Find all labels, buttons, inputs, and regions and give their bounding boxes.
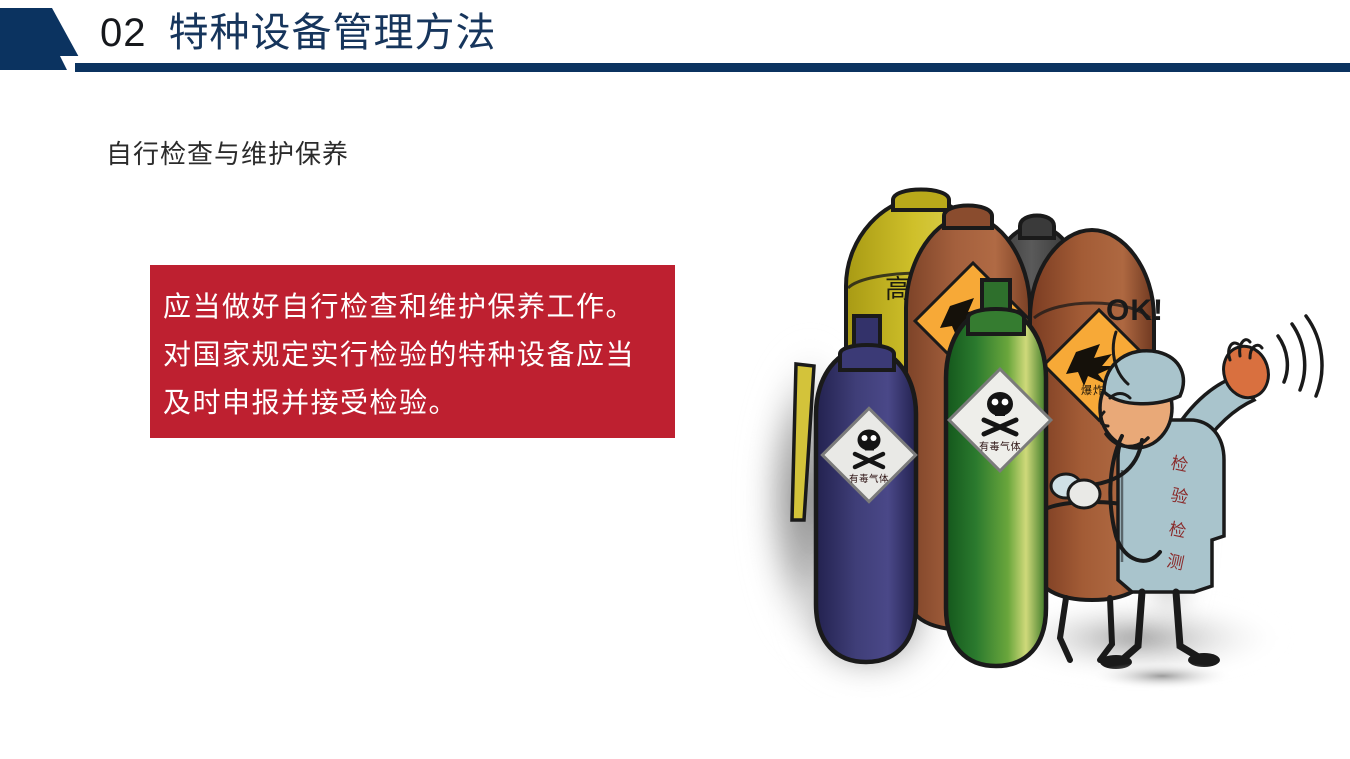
section-title: 特种设备管理方法 (169, 13, 497, 53)
skull-eye-r-green (1002, 399, 1009, 406)
inspector-waving-hand (1217, 316, 1322, 404)
cylinder-blue: 有毒气体 (816, 316, 916, 662)
callout-line-1: 应当做好自行检查和维护保养工作。 (163, 284, 675, 332)
section-number: 02 (100, 13, 147, 53)
illustration-gas-cylinders: 高压 爆炸品 (718, 168, 1350, 698)
green-cylinder-collar (968, 309, 1024, 334)
skull-jaw-green (995, 411, 1005, 416)
cylinder-green: 有毒气体 (946, 280, 1051, 666)
grey-cylinder-neck (1020, 216, 1054, 239)
page-title: 02 特种设备管理方法 (100, 7, 497, 59)
yellow-cylinder-neck (893, 190, 949, 211)
subtitle-text: 自行检查与维护保养 (106, 134, 349, 171)
skull-eye-r-blue (871, 435, 877, 441)
callout-line-3: 及时申报并接受检验。 (163, 380, 675, 428)
inspector-speech-text: OK! (1106, 294, 1164, 327)
brown-cylinder-neck (944, 206, 992, 229)
toxic-label-text-blue: 有毒气体 (849, 473, 889, 485)
motion-lines (1278, 316, 1322, 396)
skull-jaw-blue (865, 446, 874, 451)
callout-box: 应当做好自行检查和维护保养工作。 对国家规定实行检验的特种设备应当 及时申报并接… (150, 265, 675, 438)
toxic-label-text-green: 有毒气体 (979, 440, 1021, 453)
header-underline-bar (75, 63, 1350, 72)
gas-cylinders-inspector-svg: 高压 爆炸品 (718, 168, 1350, 698)
green-cylinder-body (946, 308, 1046, 666)
slide-canvas: 02 特种设备管理方法 自行检查与维护保养 应当做好自行检查和维护保养工作。 对… (0, 0, 1350, 759)
skull-eye-l-green (992, 399, 999, 406)
skull-eye-l-blue (862, 435, 868, 441)
blue-cylinder-body (816, 348, 916, 662)
inspector-left-hand (1068, 480, 1100, 508)
blue-cylinder-collar (840, 345, 894, 370)
slide-header: 02 特种设备管理方法 (0, 0, 1350, 80)
callout-line-2: 对国家规定实行检验的特种设备应当 (163, 332, 675, 380)
inspector-floor-shadow (1090, 662, 1234, 690)
